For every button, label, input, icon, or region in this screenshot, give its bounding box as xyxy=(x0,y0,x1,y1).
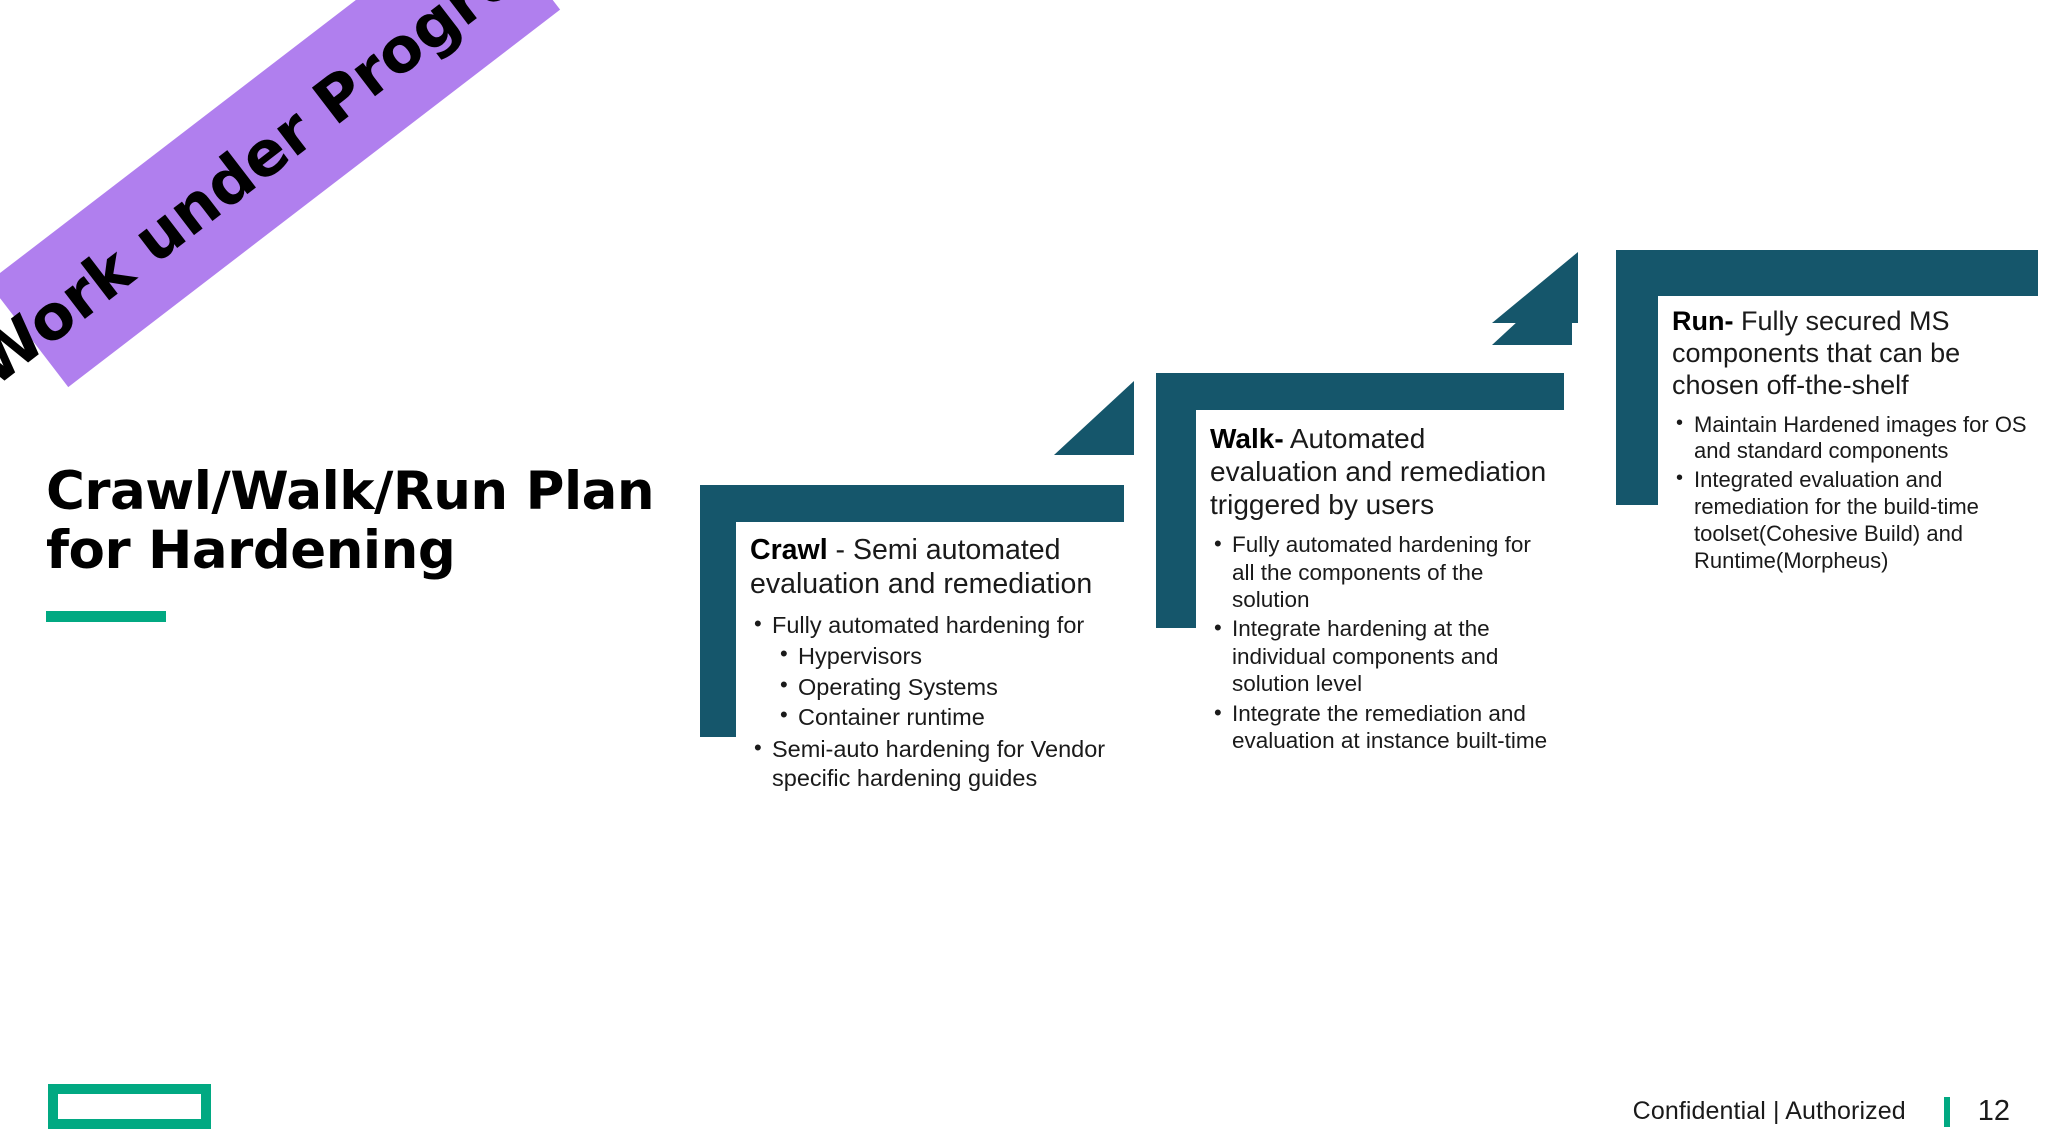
walk-bullet-1-text: Integrate hardening at the individual co… xyxy=(1232,615,1558,697)
list-item: Maintain Hardened images for OS and stan… xyxy=(1672,412,2032,466)
list-item: Integrate the remediation and evaluation… xyxy=(1210,700,1558,755)
list-item: Container runtime xyxy=(772,702,1116,733)
walk-heading-lead: Walk- xyxy=(1210,423,1284,454)
title-accent-bar xyxy=(46,611,166,622)
run-heading: Run- Fully secured MS components that ca… xyxy=(1672,306,2032,402)
run-corner-triangle-icon xyxy=(1492,252,1578,323)
footer-divider xyxy=(1944,1097,1950,1127)
page-number: 12 xyxy=(1978,1095,2010,1128)
crawl-bullet-1-text: Semi-auto hardening for Vendor specific … xyxy=(772,735,1116,793)
title-block: Crawl/Walk/Run Plan for Hardening xyxy=(46,462,666,622)
crawl-card-body: Crawl - Semi automated evaluation and re… xyxy=(736,522,1124,795)
page-title: Crawl/Walk/Run Plan for Hardening xyxy=(46,462,666,581)
crawl-corner-triangle-icon xyxy=(1054,381,1134,455)
list-item: Semi-auto hardening for Vendor specific … xyxy=(750,735,1116,793)
run-heading-lead: Run- xyxy=(1672,306,1733,336)
run-bullet-1-text: Integrated evaluation and remediation fo… xyxy=(1694,467,2032,574)
crawl-heading: Crawl - Semi automated evaluation and re… xyxy=(750,534,1116,601)
list-item: Fully automated hardening for all the co… xyxy=(1210,531,1558,613)
walk-bullet-list: Fully automated hardening for all the co… xyxy=(1210,531,1558,755)
walk-bullet-2-text: Integrate the remediation and evaluation… xyxy=(1232,700,1558,755)
walk-heading: Walk- Automated evaluation and remediati… xyxy=(1210,422,1558,521)
crawl-bullet-0-text: Fully automated hardening for xyxy=(772,611,1116,640)
walk-card-body: Walk- Automated evaluation and remediati… xyxy=(1196,410,1564,757)
run-bullet-0-text: Maintain Hardened images for OS and stan… xyxy=(1694,412,2032,466)
work-under-progress-banner: Work under Progress xyxy=(0,0,560,387)
walk-frame-top-bar xyxy=(1156,373,1564,410)
list-item: Operating Systems xyxy=(772,672,1116,703)
walk-frame-left-bar xyxy=(1156,373,1196,628)
run-frame-top-bar xyxy=(1616,250,2038,296)
footer: Confidential | Authorized 12 xyxy=(1633,1095,2010,1128)
list-item: Fully automated hardening for Hypervisor… xyxy=(750,611,1116,733)
run-frame-left-bar xyxy=(1616,250,1658,505)
list-item: Integrated evaluation and remediation fo… xyxy=(1672,467,2032,574)
crawl-frame-top-bar xyxy=(700,485,1124,522)
crawl-heading-lead: Crawl xyxy=(750,534,828,566)
crawl-bullet-list: Fully automated hardening for Hypervisor… xyxy=(750,611,1116,793)
list-item: Integrate hardening at the individual co… xyxy=(1210,615,1558,697)
crawl-sub-bullet-list: Hypervisors Operating Systems Container … xyxy=(772,641,1116,733)
crawl-frame-left-bar xyxy=(700,485,736,737)
list-item: Hypervisors xyxy=(772,641,1116,672)
hpe-logo xyxy=(48,1084,211,1129)
run-card-body: Run- Fully secured MS components that ca… xyxy=(1658,296,2038,577)
work-under-progress-label: Work under Progress xyxy=(0,0,589,400)
confidentiality-label: Confidential | Authorized xyxy=(1633,1097,1906,1126)
walk-bullet-0-text: Fully automated hardening for all the co… xyxy=(1232,531,1558,613)
run-bullet-list: Maintain Hardened images for OS and stan… xyxy=(1672,412,2032,575)
